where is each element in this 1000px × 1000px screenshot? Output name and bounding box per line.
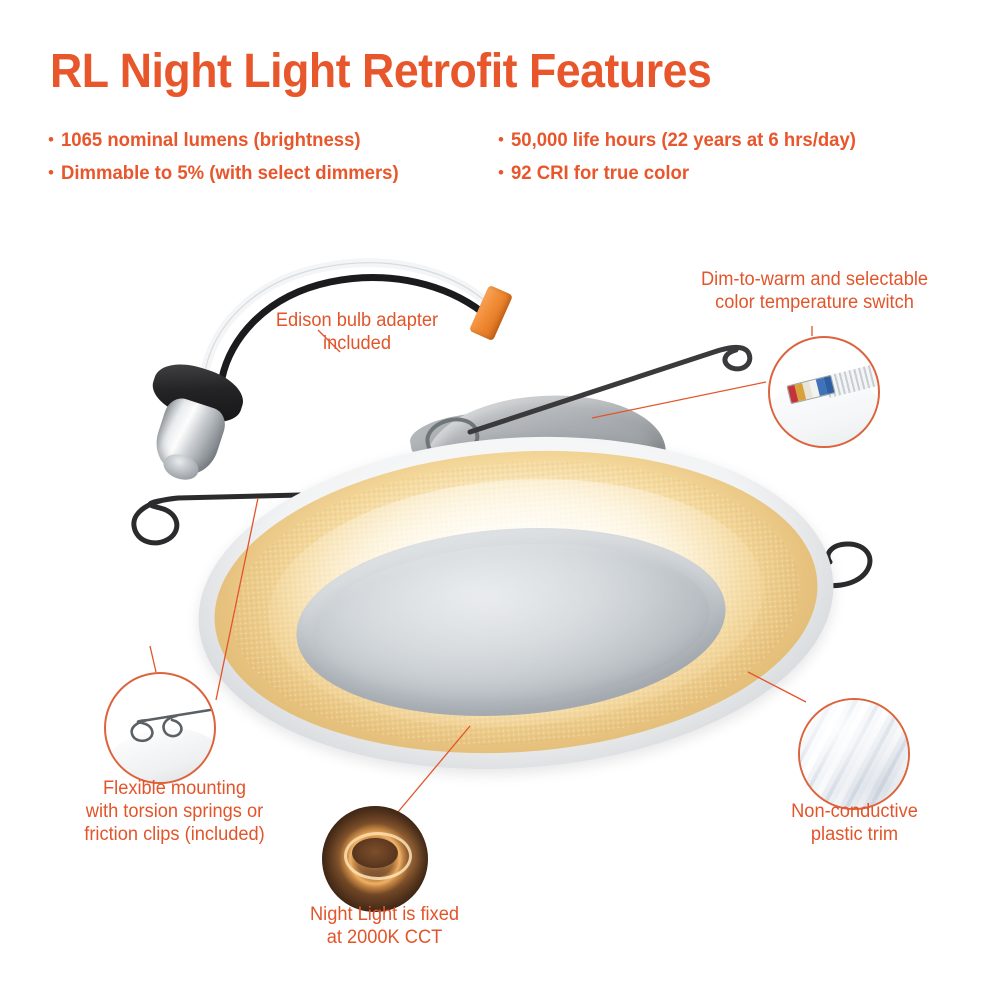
inset-plastic-trim bbox=[798, 698, 910, 810]
product-feature-infographic: RL Night Light Retrofit Features • 1065 … bbox=[0, 0, 1000, 1000]
inset-night-light-core bbox=[352, 838, 398, 868]
callout-leader-lines bbox=[0, 0, 1000, 1000]
torsion-spring-icon bbox=[106, 674, 214, 782]
callout-cct-switch: Dim-to-warm and selectable color tempera… bbox=[678, 268, 952, 314]
inset-cct-switch bbox=[768, 336, 880, 448]
inset-flexible-mounting bbox=[104, 672, 216, 784]
callout-night-light: Night Light is fixed at 2000K CCT bbox=[277, 903, 493, 949]
inset-trim-shading bbox=[798, 698, 910, 810]
callout-plastic-trim: Non-conductive plastic trim bbox=[756, 800, 953, 846]
callout-flexible-mounting: Flexible mounting with torsion springs o… bbox=[47, 777, 301, 846]
callout-edison-adapter: Edison bulb adapter included bbox=[251, 309, 462, 355]
